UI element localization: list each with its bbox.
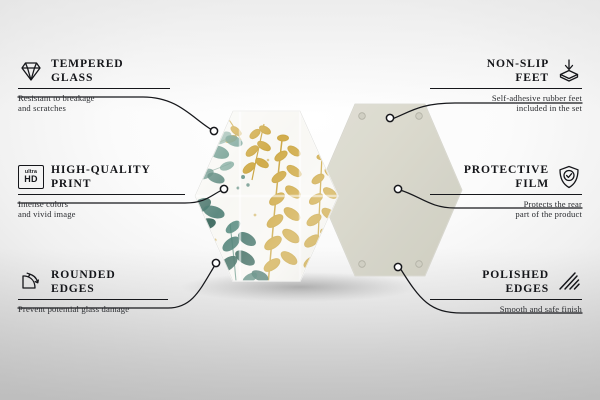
feature-desc-line2: and vivid image: [18, 209, 185, 219]
feature-title-line2: GLASS: [51, 71, 124, 85]
feature-title-line1: ROUNDED: [51, 268, 116, 282]
feature-polished-edges: POLISHED EDGES Smooth and safe finish: [430, 268, 582, 314]
feature-desc-line2: part of the product: [430, 209, 582, 219]
marker-high-quality-print: [220, 185, 227, 192]
feature-rule: [18, 194, 185, 195]
feature-high-quality-print: ultra HD HIGH-QUALITY PRINT Intense colo…: [18, 163, 185, 220]
feature-title-line2: FEET: [487, 71, 549, 85]
feature-title-line1: TEMPERED: [51, 57, 124, 71]
feature-rounded-edges: ROUNDED EDGES Prevent potential glass da…: [18, 268, 168, 314]
ultra-hd-icon-bottom: HD: [24, 175, 38, 184]
feature-desc-line1: Intense colors: [18, 199, 185, 209]
feature-desc-line2: and scratches: [18, 103, 170, 113]
marker-polished-edges: [394, 263, 401, 270]
feature-title-line1: POLISHED: [482, 268, 549, 282]
feature-rule: [18, 88, 170, 89]
feature-title-line2: PRINT: [51, 177, 151, 191]
press-down-pad-icon: [556, 58, 582, 84]
feature-desc-line1: Self-adhesive rubber feet: [430, 93, 582, 103]
diamond-icon: [18, 59, 44, 83]
feature-desc-line1: Protects the rear: [430, 199, 582, 209]
marker-non-slip-feet: [386, 114, 393, 121]
feature-desc-line1: Prevent potential glass damage: [18, 304, 168, 314]
feature-protective-film: PROTECTIVE FILM Protects the rear part o…: [430, 163, 582, 220]
marker-protective-film: [394, 185, 401, 192]
feature-rule: [18, 299, 168, 300]
feature-rule: [430, 194, 582, 195]
feature-title-line1: PROTECTIVE: [464, 163, 549, 177]
feature-rule: [430, 88, 582, 89]
diagonal-lines-icon: [556, 270, 582, 294]
marker-tempered-glass: [210, 127, 217, 134]
ultra-hd-icon: ultra HD: [18, 165, 44, 189]
infographic-canvas: TEMPERED GLASS Resistant to breakage and…: [0, 0, 600, 400]
feature-rule: [430, 299, 582, 300]
rounded-corner-icon: [18, 270, 44, 294]
feature-title-line2: FILM: [464, 177, 549, 191]
feature-desc-line2: included in the set: [430, 103, 582, 113]
feature-non-slip-feet: NON-SLIP FEET Self-adhesive rubber feet …: [430, 57, 582, 114]
feature-desc-line1: Smooth and safe finish: [430, 304, 582, 314]
feature-title-line2: EDGES: [482, 282, 549, 296]
feature-title-line1: NON-SLIP: [487, 57, 549, 71]
marker-rounded-edges: [212, 259, 219, 266]
feature-title-line2: EDGES: [51, 282, 116, 296]
feature-title-line1: HIGH-QUALITY: [51, 163, 151, 177]
shield-check-icon: [556, 164, 582, 190]
feature-tempered-glass: TEMPERED GLASS Resistant to breakage and…: [18, 57, 170, 114]
feature-desc-line1: Resistant to breakage: [18, 93, 170, 103]
